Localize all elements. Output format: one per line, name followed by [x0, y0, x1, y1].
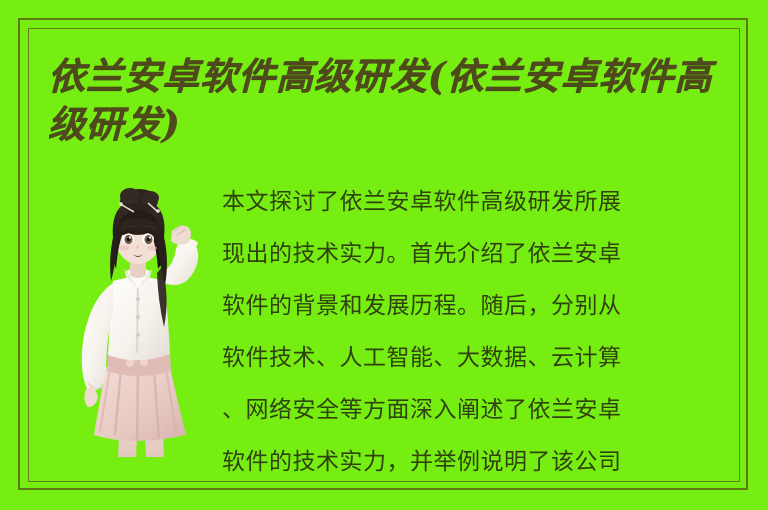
title-line-1: 依兰安卓软件高级研发(依兰安卓软件高 [48, 52, 748, 100]
body-line-6: 软件的技术实力，并举例说明了该公司 [222, 436, 742, 488]
title-line-2: 级研发) [48, 100, 748, 148]
anime-girl-saluting-illustration [58, 185, 208, 457]
body-line-1: 本文探讨了依兰安卓软件高级研发所展 [222, 176, 742, 228]
page-title: 依兰安卓软件高级研发(依兰安卓软件高 级研发) [48, 52, 748, 148]
article-summary: 本文探讨了依兰安卓软件高级研发所展 现出的技术实力。首先介绍了依兰安卓 软件的背… [222, 176, 742, 488]
article-banner: 依兰安卓软件高级研发(依兰安卓软件高 级研发) [0, 0, 768, 510]
body-line-5: 、网络安全等方面深入阐述了依兰安卓 [222, 384, 742, 436]
body-line-4: 软件技术、人工智能、大数据、云计算 [222, 332, 742, 384]
body-line-2: 现出的技术实力。首先介绍了依兰安卓 [222, 228, 742, 280]
body-line-3: 软件的背景和发展历程。随后，分别从 [222, 280, 742, 332]
